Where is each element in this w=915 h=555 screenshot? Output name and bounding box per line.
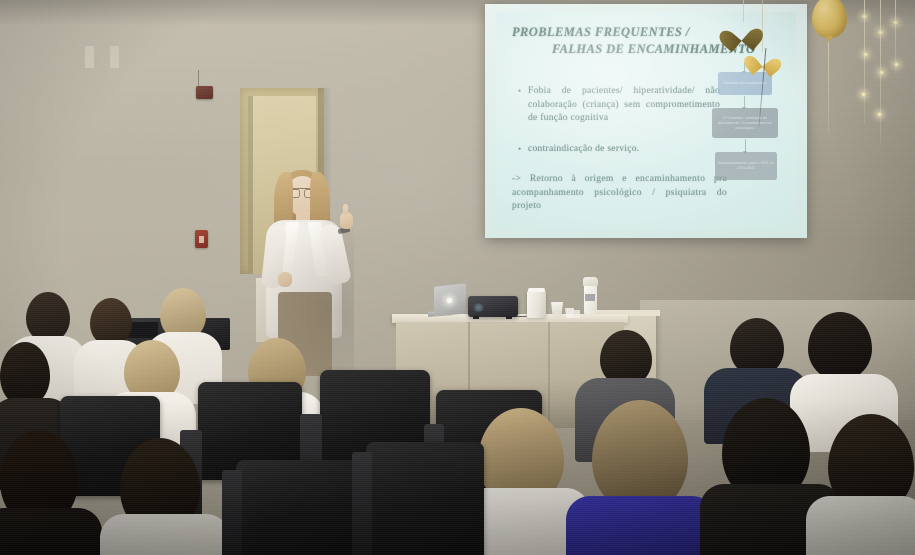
chair-armrest [222, 470, 242, 555]
projector-foot [506, 316, 512, 319]
projector-lens-icon [473, 303, 484, 312]
presentation-photo-scene: PROBLEMAS FREQUENTES / FALHAS DE ENCAMIN… [0, 0, 915, 555]
thermos-lid [528, 288, 545, 292]
light-bulb-icon [878, 30, 883, 35]
slide-closing-note: -> Retorno à origem e encaminhamento pra… [512, 172, 727, 213]
heart-balloon-string-2 [762, 0, 763, 52]
small-box-item [572, 310, 580, 318]
fire-alarm-lever [199, 236, 204, 243]
flowchart-arrow-icon-3 [745, 139, 746, 151]
thermos-icon[interactable] [527, 290, 546, 318]
audience-body [100, 514, 230, 555]
flowchart-box-3: Encaminhamento para o CEO ou CRO-ABO [715, 152, 777, 180]
thumbs-up-icon [343, 204, 348, 215]
apple-logo-icon [446, 297, 453, 304]
cup-icon[interactable] [551, 302, 563, 317]
audience-head [808, 312, 872, 380]
audience-body [0, 508, 102, 555]
balloon-knot [825, 36, 833, 42]
heart-balloon-string-1 [743, 0, 744, 22]
audience-body [806, 496, 915, 555]
slide-bullet-2-text: contraindicação de serviço. [528, 142, 718, 156]
audience-head [0, 342, 50, 406]
bullet-marker-icon: • [518, 86, 521, 96]
light-bulb-icon [862, 14, 867, 19]
audience-head [26, 292, 70, 342]
wall-plate-right [110, 46, 119, 68]
speaker-wire [198, 70, 199, 87]
round-balloon-icon [812, 0, 847, 38]
heart-balloon-dark-icon [725, 19, 757, 47]
light-bulb-icon [861, 92, 866, 97]
chair-armrest [352, 452, 372, 555]
spray-bottle-head [583, 277, 598, 286]
presenter-hand-left [278, 272, 292, 287]
wall-speaker-icon [196, 86, 213, 99]
flowchart-box-2: 1ª Consulta / avaliação de atendimento /… [712, 108, 778, 138]
light-bulb-icon [894, 62, 899, 67]
audience-body [566, 496, 716, 555]
balloon-string [828, 42, 829, 134]
audience-chair[interactable] [366, 442, 484, 555]
light-bulb-icon [877, 112, 882, 117]
audience-head [90, 298, 132, 346]
slide-bullet-1-text: Fobia de pacientes/ hiperatividade/ não … [528, 84, 720, 125]
light-bulb-icon [893, 20, 898, 25]
audience-chair[interactable] [236, 460, 358, 555]
spray-bottle-label [585, 294, 595, 301]
flowchart-arrow-icon-2 [744, 96, 745, 107]
wall-plate-left [85, 46, 94, 68]
light-bulb-icon [863, 52, 868, 57]
projector-foot [473, 316, 479, 319]
bullet-marker-icon: • [518, 144, 521, 154]
light-bulb-icon [879, 70, 884, 75]
slide-title-line-1: PROBLEMAS FREQUENTES / [512, 25, 690, 40]
